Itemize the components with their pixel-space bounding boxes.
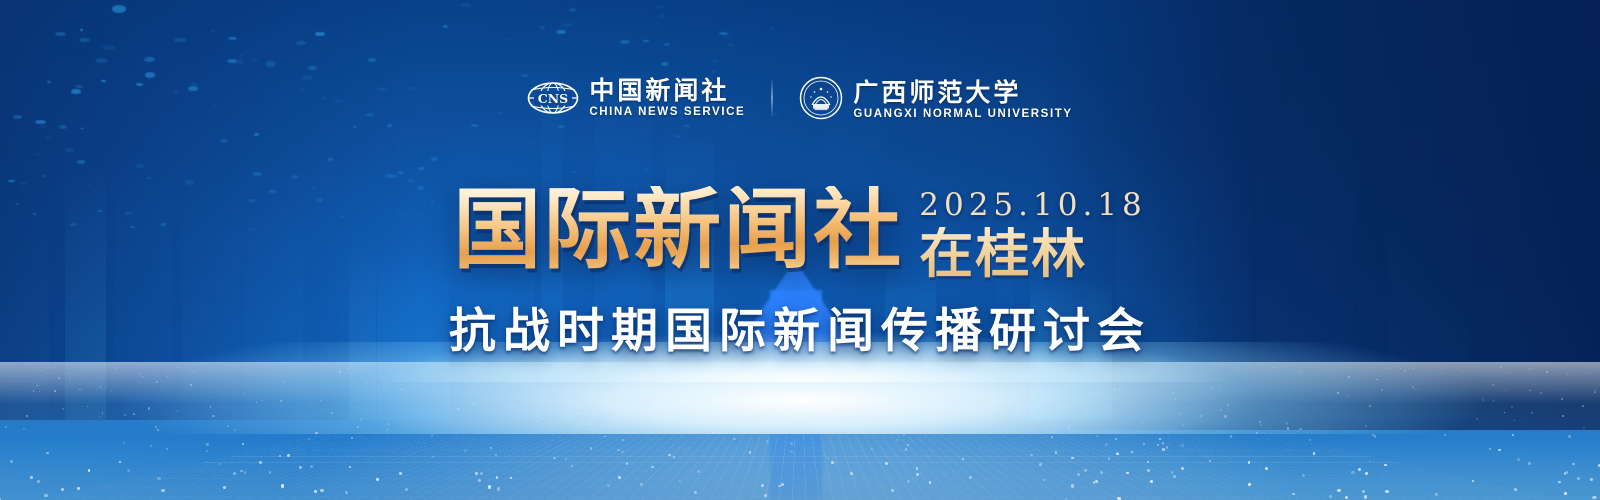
event-location: 在桂林 [919,227,1087,281]
main-title: 国际新闻社 [453,186,903,274]
event-subtitle: 抗战时期国际新闻传播研讨会 [0,308,1600,355]
logo-cns-english: CHINA NEWS SERVICE [589,106,745,118]
logo-gxnu-english: GUANGXI NORMAL UNIVERSITY [853,108,1072,120]
gxnu-seal-icon [799,76,843,120]
event-date: 2025.10.18 [919,190,1147,221]
logo-divider [771,78,773,118]
background-network-plane [0,342,1600,500]
logo-cns-chinese: 中国新闻社 [589,78,729,104]
event-banner: CNS 中国新闻社 CHINA NEWS SERVICE [0,0,1600,500]
svg-text:CNS: CNS [538,91,568,106]
logo-row: CNS 中国新闻社 CHINA NEWS SERVICE [0,76,1600,120]
logo-guangxi-normal-university: 广西师范大学 GUANGXI NORMAL UNIVERSITY [799,76,1072,120]
headline-block: 国际新闻社 2025.10.18 在桂林 [0,186,1600,281]
logo-gxnu-chinese: 广西师范大学 [853,80,1021,106]
logo-china-news-service: CNS 中国新闻社 CHINA NEWS SERVICE [527,78,745,118]
cns-globe-icon: CNS [527,78,579,118]
